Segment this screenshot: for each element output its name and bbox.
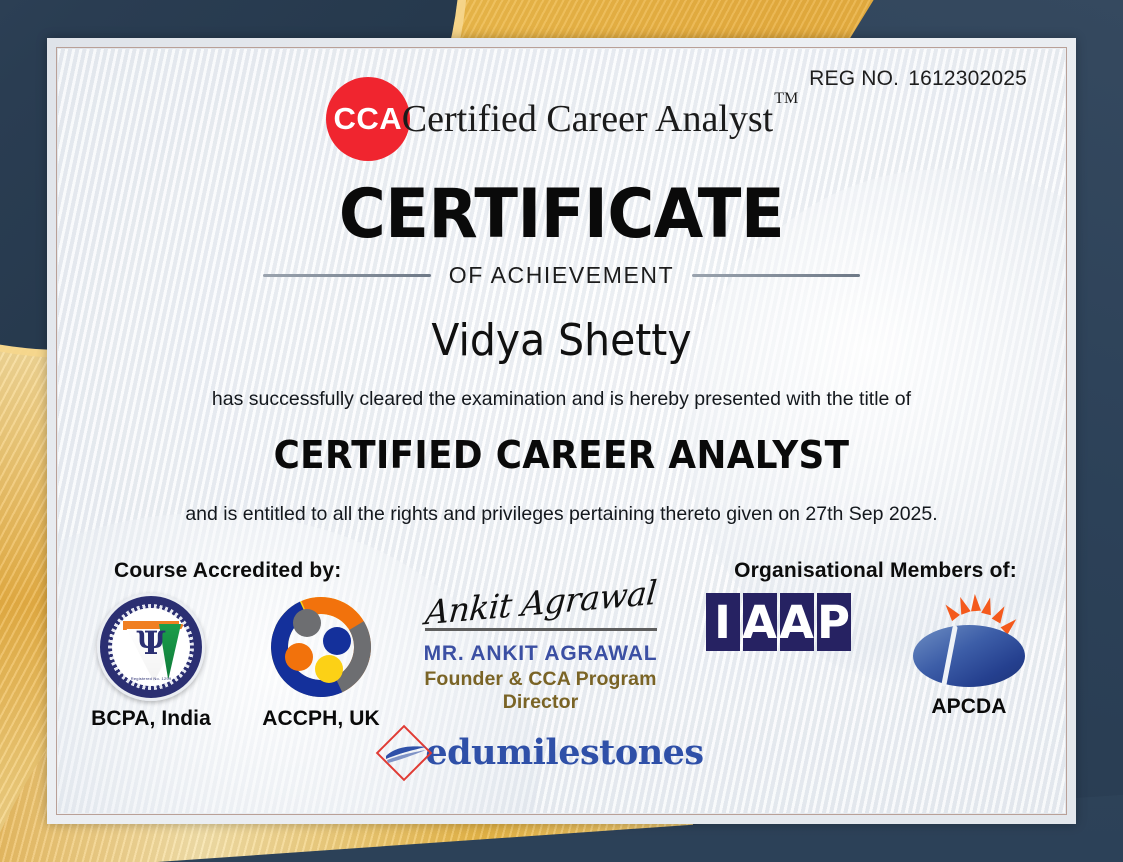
citation-line-2: and is entitled to all the rights and pr… bbox=[92, 503, 1031, 526]
logo-iaap: I A A P bbox=[693, 587, 863, 651]
certificate-paper: REG NO.1612302025 CCA Certified Career A… bbox=[58, 49, 1065, 813]
membership-logos: I A A P bbox=[693, 587, 1039, 719]
accph-dot-gray bbox=[293, 609, 321, 637]
registration-label: REG NO. bbox=[809, 67, 899, 90]
seal-face: BHARATIYA COUNSELLING PSYCHOLOGY ASSOCIA… bbox=[112, 608, 190, 686]
logo-accph: ACCPH, UK bbox=[254, 587, 388, 731]
award-title: CERTIFIED CAREER ANALYST bbox=[120, 433, 1003, 477]
logo-bcpa: BHARATIYA COUNSELLING PSYCHOLOGY ASSOCIA… bbox=[84, 587, 218, 731]
subtitle-rule-right bbox=[692, 274, 860, 277]
bcpa-seal-icon: BHARATIYA COUNSELLING PSYCHOLOGY ASSOCIA… bbox=[97, 593, 205, 701]
accreditation-logos: BHARATIYA COUNSELLING PSYCHOLOGY ASSOCIA… bbox=[84, 587, 388, 731]
edumilestones-mark-icon bbox=[377, 726, 431, 780]
certificate-subtitle-row: OF ACHIEVEMENT bbox=[92, 262, 1031, 289]
recipient-name: Vidya Shetty bbox=[125, 315, 998, 366]
iaap-letter-tile: A bbox=[780, 593, 814, 651]
brand-name: Certified Career AnalystTM bbox=[402, 97, 797, 141]
citation-line-1: has successfully cleared the examination… bbox=[92, 388, 1031, 411]
edumilestones-wordmark: edumilestones bbox=[425, 732, 703, 773]
logo-apcda: APCDA bbox=[899, 587, 1039, 719]
apcda-logo-icon bbox=[907, 597, 1031, 689]
footer-body: BHARATIYA COUNSELLING PSYCHOLOGY ASSOCIA… bbox=[84, 587, 1039, 780]
signature-block: Ankit Agrawal MR. ANKIT AGRAWAL Founder … bbox=[391, 583, 691, 780]
psi-symbol-icon: Ψ bbox=[112, 624, 190, 662]
cca-badge-icon: CCA bbox=[326, 77, 410, 161]
seal-top-text: BHARATIYA COUNSELLING PSYCHOLOGY ASSOCIA… bbox=[112, 610, 190, 620]
registration-number: 1612302025 bbox=[908, 67, 1027, 90]
certificate-card: REG NO.1612302025 CCA Certified Career A… bbox=[47, 38, 1076, 824]
accph-dot-yellow bbox=[315, 655, 343, 683]
accph-arc-blue bbox=[257, 583, 385, 711]
edumilestones-logo: edumilestones bbox=[391, 726, 691, 780]
brand-name-text: Certified Career Analyst bbox=[402, 98, 773, 140]
iaap-letter-tile: P bbox=[817, 593, 851, 651]
iaap-letter-tile: A bbox=[743, 593, 777, 651]
apcda-caption: APCDA bbox=[899, 695, 1039, 719]
certificate-subtitle: OF ACHIEVEMENT bbox=[449, 262, 675, 289]
iaap-logo-icon: I A A P bbox=[706, 593, 851, 651]
signatory-role: Founder & CCA Program Director bbox=[391, 668, 691, 714]
trademark-symbol: TM bbox=[774, 90, 798, 107]
subtitle-rule-left bbox=[263, 274, 431, 277]
signatory-name: MR. ANKIT AGRAWAL bbox=[391, 642, 691, 666]
certificate-title: CERTIFICATE bbox=[120, 175, 1003, 254]
seal-bottom-text: Registered No. 1299 bbox=[112, 676, 190, 681]
accph-dot-blue bbox=[323, 627, 351, 655]
edumilestones-swoosh-icon bbox=[386, 746, 426, 765]
certificate-footer: Course Accredited by: Organisational Mem… bbox=[58, 559, 1065, 809]
accph-logo-icon bbox=[267, 593, 375, 701]
certificate-root: REG NO.1612302025 CCA Certified Career A… bbox=[0, 0, 1123, 862]
apcda-ray bbox=[970, 594, 981, 612]
bcpa-caption: BCPA, India bbox=[84, 707, 218, 731]
apcda-ellipse bbox=[913, 625, 1025, 687]
apcda-ray bbox=[981, 596, 995, 615]
accreditation-heading: Course Accredited by: bbox=[114, 559, 341, 583]
accph-dot-orange bbox=[285, 643, 313, 671]
certificate-content: REG NO.1612302025 CCA Certified Career A… bbox=[58, 49, 1065, 813]
accph-caption: ACCPH, UK bbox=[254, 707, 388, 731]
iaap-letter-tile: I bbox=[706, 593, 740, 651]
footer-headings: Course Accredited by: Organisational Mem… bbox=[84, 559, 1039, 583]
membership-heading: Organisational Members of: bbox=[734, 559, 1017, 583]
